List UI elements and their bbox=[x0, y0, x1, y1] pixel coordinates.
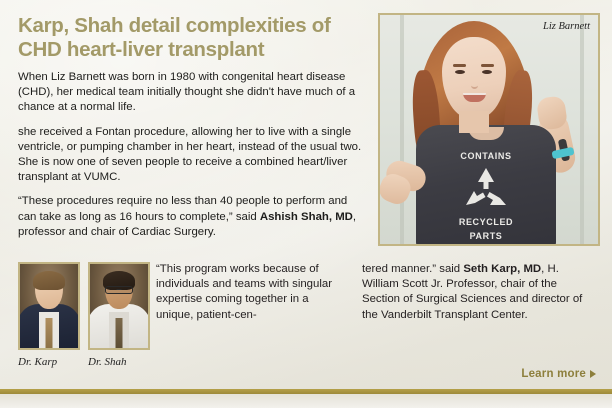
subject-tshirt: CONTAINS RECYCLED PARTS bbox=[416, 125, 556, 246]
hero-photo-liz-barnett: CONTAINS RECYCLED PARTS bbox=[378, 13, 600, 246]
doctor-photo-karp bbox=[18, 262, 80, 350]
learn-more-label: Learn more bbox=[521, 368, 586, 380]
mouth bbox=[463, 93, 486, 102]
tshirt-text-line-1: CONTAINS bbox=[416, 151, 556, 161]
hero-photo-caption: Liz Barnett bbox=[543, 21, 590, 32]
learn-more-link[interactable]: Learn more bbox=[521, 368, 596, 380]
hero-photo-image: CONTAINS RECYCLED PARTS bbox=[380, 15, 598, 244]
paragraph-1: When Liz Barnett was born in 1980 with c… bbox=[18, 70, 366, 116]
eye-left bbox=[455, 70, 465, 74]
doctor-photo-caption-shah: Dr. Shah bbox=[88, 356, 127, 368]
wall-panel-line bbox=[580, 15, 584, 244]
page-title: Karp, Shah detail complexities of CHD he… bbox=[18, 14, 366, 62]
nose bbox=[471, 80, 478, 89]
eyebrow-left bbox=[453, 64, 466, 67]
ashish-shah-name: Ashish Shah, MD bbox=[260, 211, 353, 223]
eyebrow-right bbox=[481, 64, 494, 67]
portrait-tie bbox=[116, 318, 123, 348]
gold-divider-rule bbox=[0, 389, 612, 394]
doctor-photo-shah bbox=[88, 262, 150, 350]
article-body-column-3: tered manner.” said Seth Karp, MD, H. Wi… bbox=[362, 262, 598, 323]
subject-neck bbox=[459, 111, 489, 133]
seth-karp-name: Seth Karp, MD bbox=[463, 263, 541, 275]
portrait-tie bbox=[46, 318, 53, 348]
footer-shade bbox=[0, 394, 612, 408]
article-body-column-1: When Liz Barnett was born in 1980 with c… bbox=[18, 70, 366, 240]
chevron-right-icon bbox=[590, 370, 596, 378]
portrait-hair bbox=[33, 271, 65, 290]
tshirt-text-line-3: PARTS bbox=[416, 231, 556, 241]
article-body-column-2: “This program works because of individua… bbox=[156, 262, 341, 323]
column-3-lead: tered manner.” said bbox=[362, 263, 463, 275]
doctor-photo-caption-karp: Dr. Karp bbox=[18, 356, 57, 368]
wall-panel-line bbox=[400, 15, 404, 244]
recycle-symbol-icon bbox=[460, 165, 512, 213]
eyeglasses-icon bbox=[105, 286, 133, 294]
paragraph-2: she received a Fontan procedure, allowin… bbox=[18, 125, 366, 186]
paragraph-3: “These procedures require no less than 4… bbox=[18, 194, 366, 240]
eye-right bbox=[482, 70, 492, 74]
article-card: Karp, Shah detail complexities of CHD he… bbox=[0, 0, 612, 408]
tshirt-text-line-2: RECYCLED bbox=[416, 217, 556, 227]
